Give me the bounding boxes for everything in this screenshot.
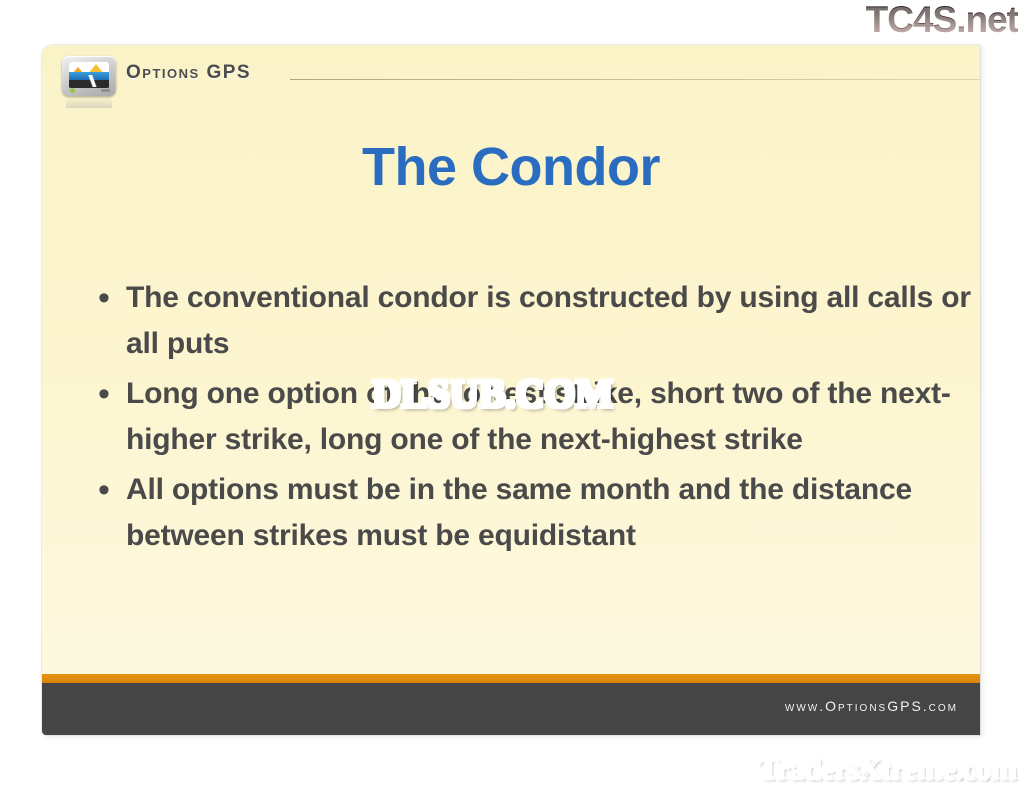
gps-device-screen (69, 62, 109, 88)
bullet-list: • The conventional condor is constructed… (92, 275, 972, 563)
gps-power-led (70, 88, 75, 93)
gps-button (101, 89, 110, 92)
tradersxtreme-brand: TradersXtreme.com (758, 751, 1016, 787)
bullet-marker: • (92, 467, 126, 513)
header-divider-rule (290, 79, 980, 80)
slide-header: Options GPS (42, 45, 980, 107)
bullet-marker: • (92, 371, 126, 417)
screen-road (73, 75, 109, 87)
accent-bar (42, 674, 980, 683)
bullet-marker: • (92, 275, 126, 321)
bullet-item: • All options must be in the same month … (92, 467, 972, 559)
bullet-text: All options must be in the same month an… (126, 467, 972, 559)
gps-device-body (62, 56, 116, 96)
gps-device-icon (62, 56, 116, 98)
tc4s-watermark: TC4S.net (866, 0, 1018, 42)
gps-icon-reflection (66, 97, 112, 108)
slide-title: The Condor (42, 137, 980, 197)
dlsub-overlay-watermark: DLSUB.COM (372, 372, 613, 416)
bullet-text: The conventional condor is constructed b… (126, 275, 972, 367)
bullet-item: • The conventional condor is constructed… (92, 275, 972, 367)
brand-logo-text: Options GPS (126, 62, 251, 84)
footer-website-text: www.OptionsGPS.com (785, 698, 958, 714)
slide-footer-bar: www.OptionsGPS.com (42, 683, 980, 735)
